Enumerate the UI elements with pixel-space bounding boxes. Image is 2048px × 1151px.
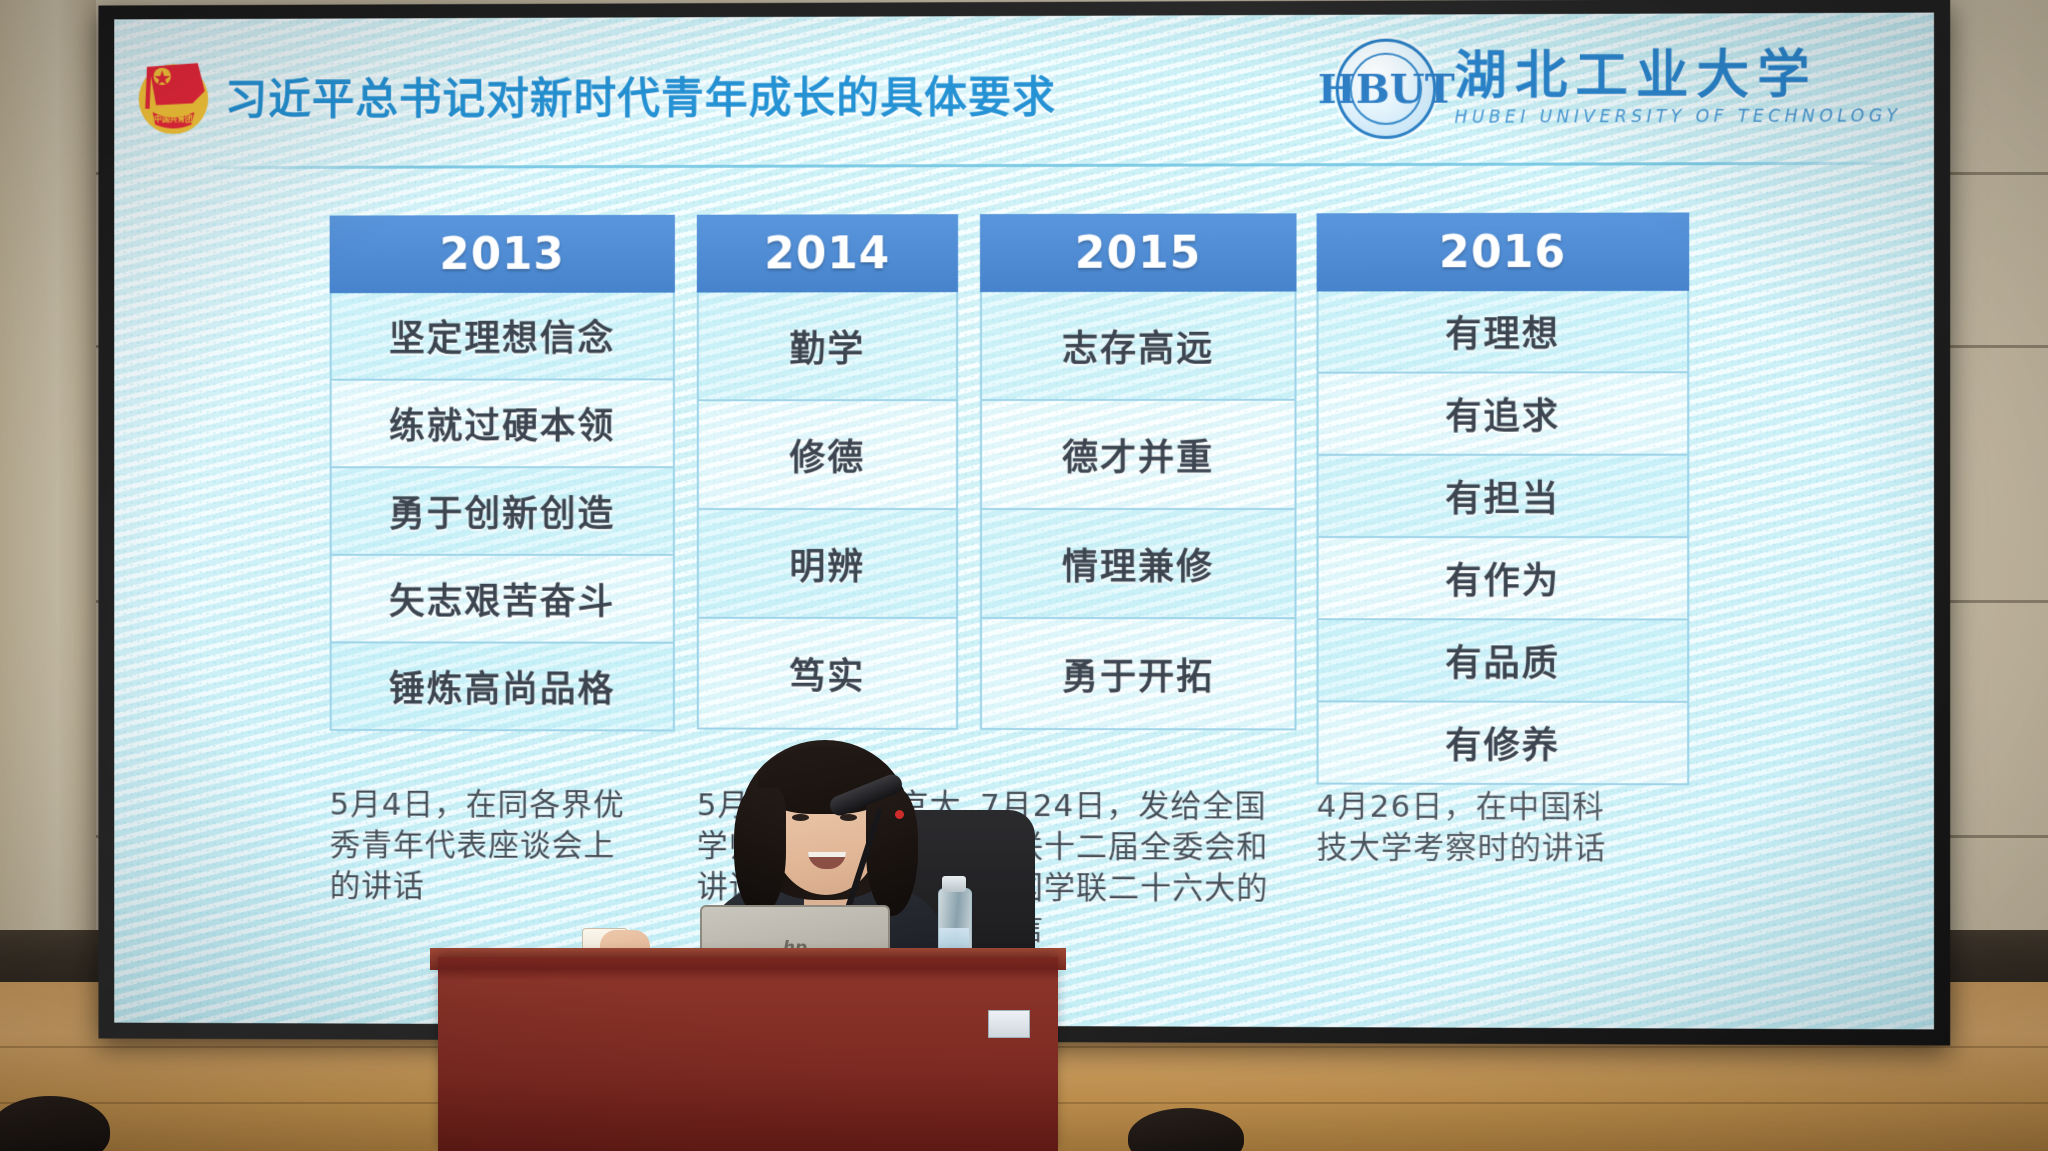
university-seal-mark: HBUT bbox=[1318, 65, 1455, 113]
table-row: 勇于创新创造 bbox=[330, 468, 675, 556]
table-row: 勇于开拓 bbox=[980, 619, 1297, 730]
table-row: 修德 bbox=[697, 401, 958, 510]
table-row: 明辨 bbox=[697, 510, 958, 619]
year-column-2014: 2014 勤学 修德 明辨 笃实 bbox=[697, 214, 958, 730]
table-row: 有修养 bbox=[1317, 702, 1690, 785]
table-row: 有理想 bbox=[1317, 291, 1690, 374]
table-row: 笃实 bbox=[697, 619, 958, 730]
header-divider bbox=[213, 162, 1904, 169]
caption-2014: 5月4日，在北京大学师生座谈会上的讲话 bbox=[697, 785, 966, 908]
projection-screen-frame: 中国共青团 习近平总书记对新时代青年成长的具体要求 HBUT 湖北工业大学 HU… bbox=[98, 0, 1950, 1046]
lecture-hall-scene: 中国共青团 习近平总书记对新时代青年成长的具体要求 HBUT 湖北工业大学 HU… bbox=[0, 0, 2048, 1151]
slide-title: 习近平总书记对新时代青年成长的具体要求 bbox=[225, 63, 1056, 127]
university-name-en: HUBEI UNIVERSITY OF TECHNOLOGY bbox=[1455, 107, 1902, 128]
university-name-cn: 湖北工业大学 bbox=[1455, 48, 1902, 104]
floor-plank-line bbox=[0, 1102, 2048, 1104]
column-header-2013: 2013 bbox=[330, 215, 675, 293]
projection-screen: 中国共青团 习近平总书记对新时代青年成长的具体要求 HBUT 湖北工业大学 HU… bbox=[114, 13, 1934, 1030]
table-row: 有品质 bbox=[1317, 620, 1690, 703]
table-row: 坚定理想信念 bbox=[330, 293, 675, 381]
svg-text:中国共青团: 中国共青团 bbox=[154, 114, 193, 124]
table-row: 有追求 bbox=[1317, 373, 1690, 456]
communist-youth-league-emblem-icon: 中国共青团 bbox=[130, 51, 217, 139]
year-tables: 2013 坚定理想信念 练就过硬本领 勇于创新创造 矢志艰苦奋斗 锤炼高尚品格 … bbox=[114, 212, 1934, 776]
table-row: 锤炼高尚品格 bbox=[330, 643, 675, 731]
year-column-2015: 2015 志存高远 德才并重 情理兼修 勇于开拓 bbox=[980, 213, 1297, 730]
caption-2013: 5月4日，在同各界优秀青年代表座谈会上的讲话 bbox=[330, 785, 628, 908]
caption-2015: 7月24日，发给全国青联十二届全委会和全国学联二十六大的贺信 bbox=[980, 786, 1280, 951]
university-logo: HBUT 湖北工业大学 HUBEI UNIVERSITY OF TECHNOLO… bbox=[1336, 33, 1902, 143]
university-seal-icon: HBUT bbox=[1336, 39, 1437, 140]
table-row: 勤学 bbox=[697, 292, 958, 401]
column-header-2014: 2014 bbox=[697, 214, 958, 292]
table-row: 志存高远 bbox=[980, 292, 1297, 402]
table-row: 情理兼修 bbox=[980, 510, 1297, 619]
table-row: 德才并重 bbox=[980, 401, 1297, 510]
year-column-2013: 2013 坚定理想信念 练就过硬本领 勇于创新创造 矢志艰苦奋斗 锤炼高尚品格 bbox=[330, 215, 675, 732]
caption-2016: 4月26日，在中国科技大学考察时的讲话 bbox=[1317, 787, 1619, 870]
table-row: 有作为 bbox=[1317, 538, 1690, 620]
floor-plank-line bbox=[0, 1046, 2048, 1048]
column-header-2016: 2016 bbox=[1317, 212, 1690, 291]
table-row: 练就过硬本领 bbox=[330, 380, 675, 468]
table-row: 矢志艰苦奋斗 bbox=[330, 556, 675, 644]
year-column-2016: 2016 有理想 有追求 有担当 有作为 有品质 有修养 bbox=[1317, 212, 1690, 785]
column-header-2015: 2015 bbox=[980, 213, 1297, 292]
slide-header: 中国共青团 习近平总书记对新时代青年成长的具体要求 HBUT 湖北工业大学 HU… bbox=[114, 13, 1934, 194]
table-row: 有担当 bbox=[1317, 456, 1690, 538]
